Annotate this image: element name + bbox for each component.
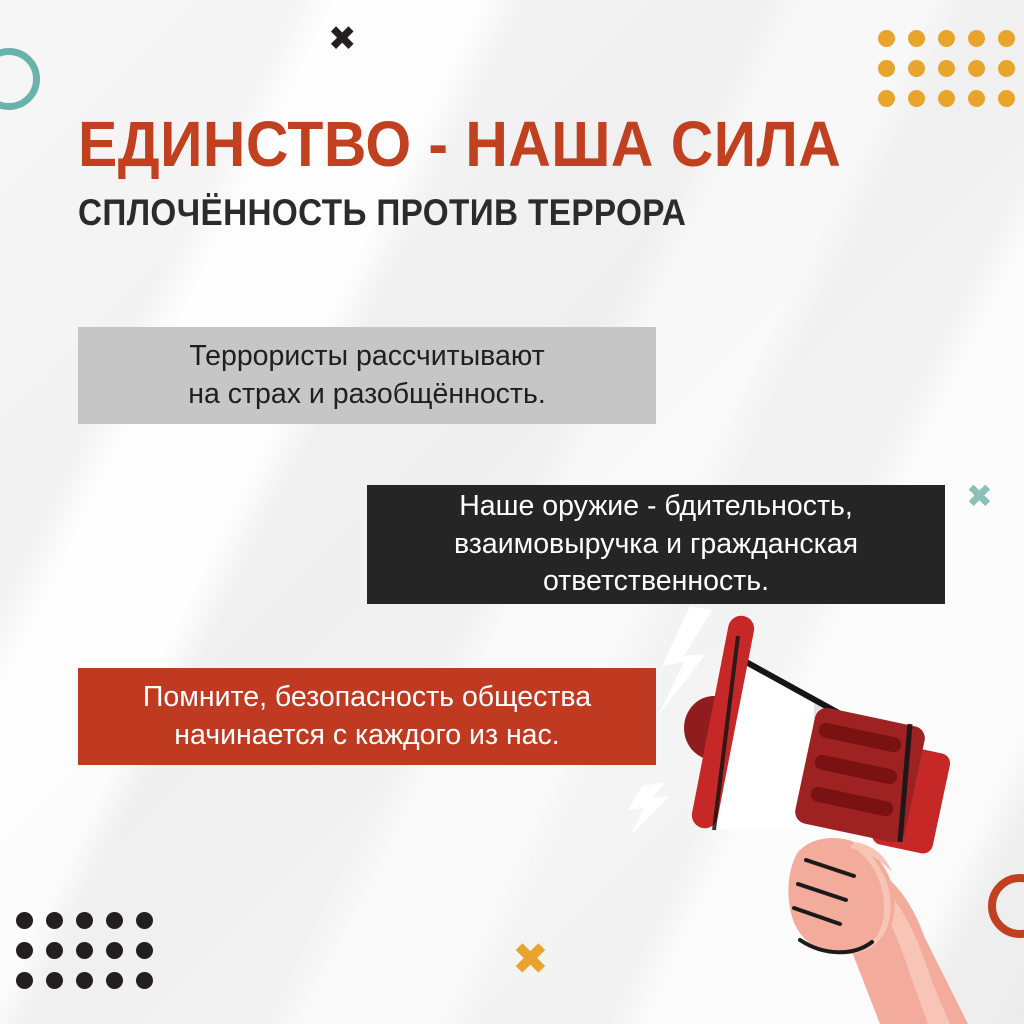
message-line: взаимовыручка и гражданская [454, 528, 858, 560]
message-line: ответственность. [543, 565, 769, 597]
dot [878, 30, 895, 47]
dot [76, 942, 93, 959]
dot [968, 90, 985, 107]
message-panel-grey-text: Террористы рассчитывают на страх и разоб… [188, 338, 546, 414]
dot [76, 912, 93, 929]
dot [136, 972, 153, 989]
dot [998, 30, 1015, 47]
message-line: Террористы рассчитывают [189, 340, 544, 372]
dot-grid-icon-bottom-left [16, 912, 153, 989]
dot [968, 30, 985, 47]
dot [46, 972, 63, 989]
message-panel-grey: Террористы рассчитывают на страх и разоб… [78, 327, 656, 424]
dot [908, 90, 925, 107]
dot [106, 942, 123, 959]
dot [878, 60, 895, 77]
x-cross-icon-bottom-center: ✖ [512, 938, 549, 982]
dot [998, 60, 1015, 77]
page-title: ЕДИНСТВО - НАША СИЛА [78, 112, 832, 176]
dot [938, 90, 955, 107]
message-line: Наше оружие - бдительность, [459, 490, 853, 522]
dot [76, 972, 93, 989]
message-panel-dark-text: Наше оружие - бдительность, взаимовыручк… [454, 488, 858, 602]
message-line: начинается с каждого из нас. [174, 719, 559, 751]
message-line: Помните, безопасность общества [143, 681, 591, 713]
x-cross-icon-mid-right: ✖ [966, 480, 993, 512]
dot [136, 912, 153, 929]
message-panel-red-text: Помните, безопасность общества начинаетс… [143, 679, 591, 755]
x-cross-icon-top-center: ✖ [328, 22, 357, 56]
message-panel-red: Помните, безопасность общества начинаетс… [78, 668, 656, 765]
dot [16, 912, 33, 929]
dot [908, 60, 925, 77]
dot [908, 30, 925, 47]
dot [938, 30, 955, 47]
poster-canvas: ✖ ✖ ✖ ЕДИНСТВО - НАША [0, 0, 1024, 1024]
dot [106, 912, 123, 929]
dot [968, 60, 985, 77]
dot [878, 90, 895, 107]
dot [46, 912, 63, 929]
page-subtitle: СПЛОЧЁННОСТЬ ПРОТИВ ТЕРРОРА [78, 194, 816, 231]
dot [46, 942, 63, 959]
heading-block: ЕДИНСТВО - НАША СИЛА СПЛОЧЁННОСТЬ ПРОТИВ… [78, 112, 898, 231]
dot [16, 942, 33, 959]
dot [938, 60, 955, 77]
message-panel-dark: Наше оружие - бдительность, взаимовыручк… [367, 485, 945, 604]
megaphone-illustration [628, 596, 1024, 1024]
dot [106, 972, 123, 989]
dot [136, 942, 153, 959]
dot-grid-icon-top-right [878, 30, 1015, 107]
dot [998, 90, 1015, 107]
message-line: на страх и разобщённость. [188, 378, 546, 410]
dot [16, 972, 33, 989]
